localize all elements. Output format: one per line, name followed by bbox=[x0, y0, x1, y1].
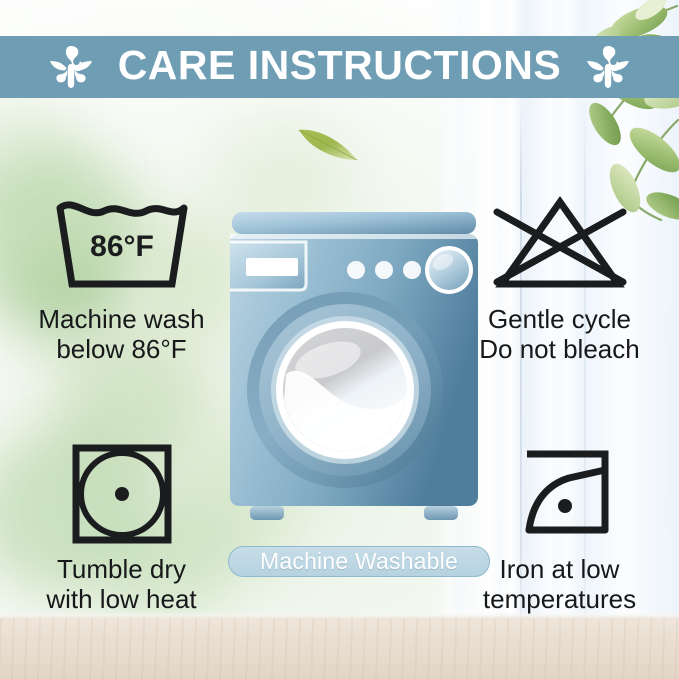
care-symbol-tumble-dry: Tumble dry with low heat bbox=[14, 440, 229, 614]
machine-button[interactable] bbox=[375, 261, 393, 279]
care-symbol-do-not-bleach: Gentle cycle Do not bleach bbox=[452, 190, 667, 364]
washing-machine-illustration bbox=[228, 210, 480, 535]
wash-basin-icon: 86°F bbox=[46, 190, 198, 298]
triangle-crossed-out-icon bbox=[487, 190, 633, 298]
iron-icon bbox=[493, 440, 627, 548]
wash-temperature-value: 86°F bbox=[90, 230, 154, 263]
machine-washable-badge: Machine Washable bbox=[228, 546, 490, 577]
badge-label: Machine Washable bbox=[260, 550, 458, 573]
fleur-de-lis-icon bbox=[579, 44, 637, 90]
machine-button[interactable] bbox=[347, 261, 365, 279]
machine-foot bbox=[424, 506, 458, 520]
drawer-slot bbox=[246, 258, 298, 276]
machine-button[interactable] bbox=[403, 261, 421, 279]
care-symbol-machine-wash: 86°F Machine wash below 86°F bbox=[14, 190, 229, 364]
care-symbol-caption: Tumble dry with low heat bbox=[46, 554, 196, 614]
machine-lid bbox=[232, 212, 476, 234]
machine-foot bbox=[250, 506, 284, 520]
care-symbol-caption: Iron at low temperatures bbox=[483, 554, 636, 614]
page-title: CARE INSTRUCTIONS bbox=[118, 45, 562, 89]
wooden-table-surface bbox=[0, 618, 679, 679]
tumble-dry-icon bbox=[70, 440, 174, 548]
fleur-de-lis-icon bbox=[42, 44, 100, 90]
floating-leaf-icon bbox=[293, 118, 363, 168]
care-symbol-caption: Gentle cycle Do not bleach bbox=[479, 304, 639, 364]
care-symbol-caption: Machine wash below 86°F bbox=[38, 304, 204, 364]
care-symbol-iron: Iron at low temperatures bbox=[452, 440, 667, 614]
header-banner: CARE INSTRUCTIONS bbox=[0, 36, 679, 98]
